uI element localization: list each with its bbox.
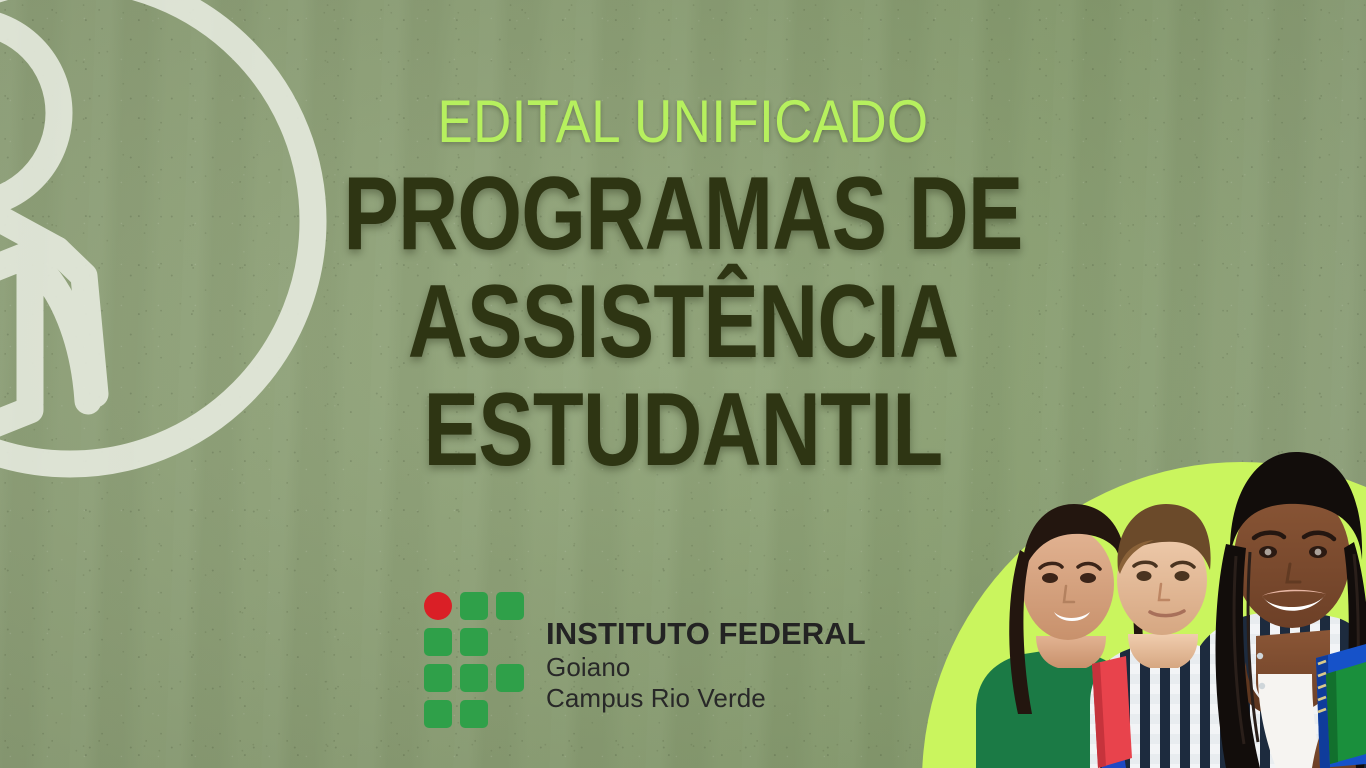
page-title: PROGRAMAS DE ASSISTÊNCIA ESTUDANTIL xyxy=(0,160,1366,484)
poster-canvas: EDITAL UNIFICADO PROGRAMAS DE ASSISTÊNCI… xyxy=(0,0,1366,768)
logo-cell-r2c1 xyxy=(424,628,452,656)
logo-cell-r1c3 xyxy=(496,592,524,620)
logo-cell-r1c1-dot xyxy=(424,592,452,620)
title-line-1: PROGRAMAS DE xyxy=(137,160,1230,268)
logo-wordmark: INSTITUTO FEDERAL Goiano Campus Rio Verd… xyxy=(546,592,866,714)
title-line-2: ASSISTÊNCIA xyxy=(137,268,1230,376)
logo-cell-r1c2 xyxy=(460,592,488,620)
logo-campus-name: Campus Rio Verde xyxy=(546,683,866,714)
logo-cell-r3c1 xyxy=(424,664,452,692)
title-line-3: ESTUDANTIL xyxy=(137,376,1230,484)
logo-cell-r3c3 xyxy=(496,664,524,692)
logo-cell-r4c3-empty xyxy=(496,700,524,728)
logo-cell-r2c3-empty xyxy=(496,628,524,656)
logo-cell-r3c2 xyxy=(460,664,488,692)
logo-institution-name: INSTITUTO FEDERAL xyxy=(546,616,866,652)
kicker-text: EDITAL UNIFICADO xyxy=(82,92,1284,152)
institution-logo: INSTITUTO FEDERAL Goiano Campus Rio Verd… xyxy=(424,592,866,728)
logo-cell-r2c2 xyxy=(460,628,488,656)
logo-unit-name: Goiano xyxy=(546,652,866,683)
logo-cell-r4c2 xyxy=(460,700,488,728)
if-logo-mark xyxy=(424,592,524,728)
logo-cell-r4c1 xyxy=(424,700,452,728)
